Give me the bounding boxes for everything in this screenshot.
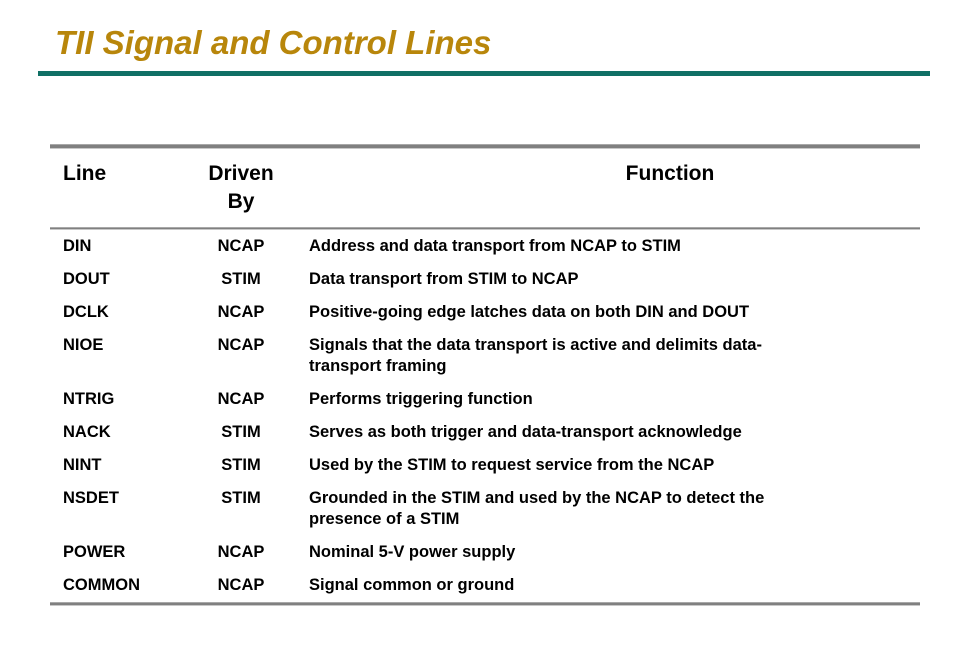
cell-line: DIN [50, 230, 186, 263]
table-row: NIOENCAPSignals that the data transport … [50, 329, 920, 383]
cell-driven-by: STIM [186, 449, 296, 482]
header-row: Line Driven By Function [50, 149, 920, 216]
function-line1: Performs triggering function [309, 389, 920, 410]
table-row: NSDETSTIMGrounded in the STIM and used b… [50, 482, 920, 536]
cell-function: Used by the STIM to request service from… [296, 449, 920, 482]
table-bottom-rule [50, 602, 920, 606]
table-row: POWERNCAPNominal 5-V power supply [50, 536, 920, 569]
cell-line: DOUT [50, 263, 186, 296]
cell-function: Data transport from STIM to NCAP [296, 263, 920, 296]
page-title: TII Signal and Control Lines [55, 22, 491, 64]
column-header-line: Line [50, 149, 186, 216]
header-spacer [50, 216, 920, 227]
cell-line: POWER [50, 536, 186, 569]
cell-function: Address and data transport from NCAP to … [296, 230, 920, 263]
function-line2: presence of a STIM [309, 509, 920, 530]
cell-line: NIOE [50, 329, 186, 383]
cell-function: Signal common or ground [296, 569, 920, 602]
cell-function: Signals that the data transport is activ… [296, 329, 920, 383]
function-line1: Nominal 5-V power supply [309, 542, 920, 563]
table-row: DCLKNCAPPositive-going edge latches data… [50, 296, 920, 329]
column-header-function: Function [358, 149, 971, 216]
function-line1: Serves as both trigger and data-transpor… [309, 422, 920, 443]
table-header: Line Driven By Function [50, 149, 920, 216]
cell-driven-by: NCAP [186, 296, 296, 329]
cell-function: Serves as both trigger and data-transpor… [296, 416, 920, 449]
function-line2: transport framing [309, 356, 920, 377]
title-underline-bar [38, 71, 930, 76]
table-row: NACKSTIMServes as both trigger and data-… [50, 416, 920, 449]
cell-driven-by: NCAP [186, 536, 296, 569]
function-line1: Grounded in the STIM and used by the NCA… [309, 488, 920, 509]
table-row: NTRIGNCAPPerforms triggering function [50, 383, 920, 416]
cell-driven-by: STIM [186, 482, 296, 536]
cell-line: DCLK [50, 296, 186, 329]
function-line1: Positive-going edge latches data on both… [309, 302, 920, 323]
function-line1: Signals that the data transport is activ… [309, 335, 920, 356]
column-header-driven-by: Driven By [186, 149, 296, 216]
cell-line: NSDET [50, 482, 186, 536]
table-row: COMMONNCAPSignal common or ground [50, 569, 920, 602]
function-line1: Address and data transport from NCAP to … [309, 236, 920, 257]
cell-driven-by: NCAP [186, 230, 296, 263]
table-row: NINTSTIMUsed by the STIM to request serv… [50, 449, 920, 482]
cell-driven-by: NCAP [186, 569, 296, 602]
cell-driven-by: STIM [186, 416, 296, 449]
table-body-grid: DINNCAPAddress and data transport from N… [50, 230, 920, 602]
function-line1: Data transport from STIM to NCAP [309, 269, 920, 290]
cell-function: Performs triggering function [296, 383, 920, 416]
signal-lines-table: Line Driven By Function DINNCAPAddress a… [50, 144, 920, 606]
cell-driven-by: NCAP [186, 329, 296, 383]
function-line1: Used by the STIM to request service from… [309, 455, 920, 476]
cell-line: NACK [50, 416, 186, 449]
driven-by-line2: By [228, 190, 255, 213]
driven-by-line1: Driven [208, 162, 273, 185]
cell-function: Positive-going edge latches data on both… [296, 296, 920, 329]
cell-driven-by: NCAP [186, 383, 296, 416]
cell-line: NTRIG [50, 383, 186, 416]
table-grid: Line Driven By Function [50, 149, 920, 216]
cell-function: Nominal 5-V power supply [296, 536, 920, 569]
function-line1: Signal common or ground [309, 575, 920, 596]
cell-driven-by: STIM [186, 263, 296, 296]
table-row: DOUTSTIMData transport from STIM to NCAP [50, 263, 920, 296]
table-row: DINNCAPAddress and data transport from N… [50, 230, 920, 263]
cell-line: NINT [50, 449, 186, 482]
cell-line: COMMON [50, 569, 186, 602]
table-body: DINNCAPAddress and data transport from N… [50, 230, 920, 602]
cell-function: Grounded in the STIM and used by the NCA… [296, 482, 920, 536]
